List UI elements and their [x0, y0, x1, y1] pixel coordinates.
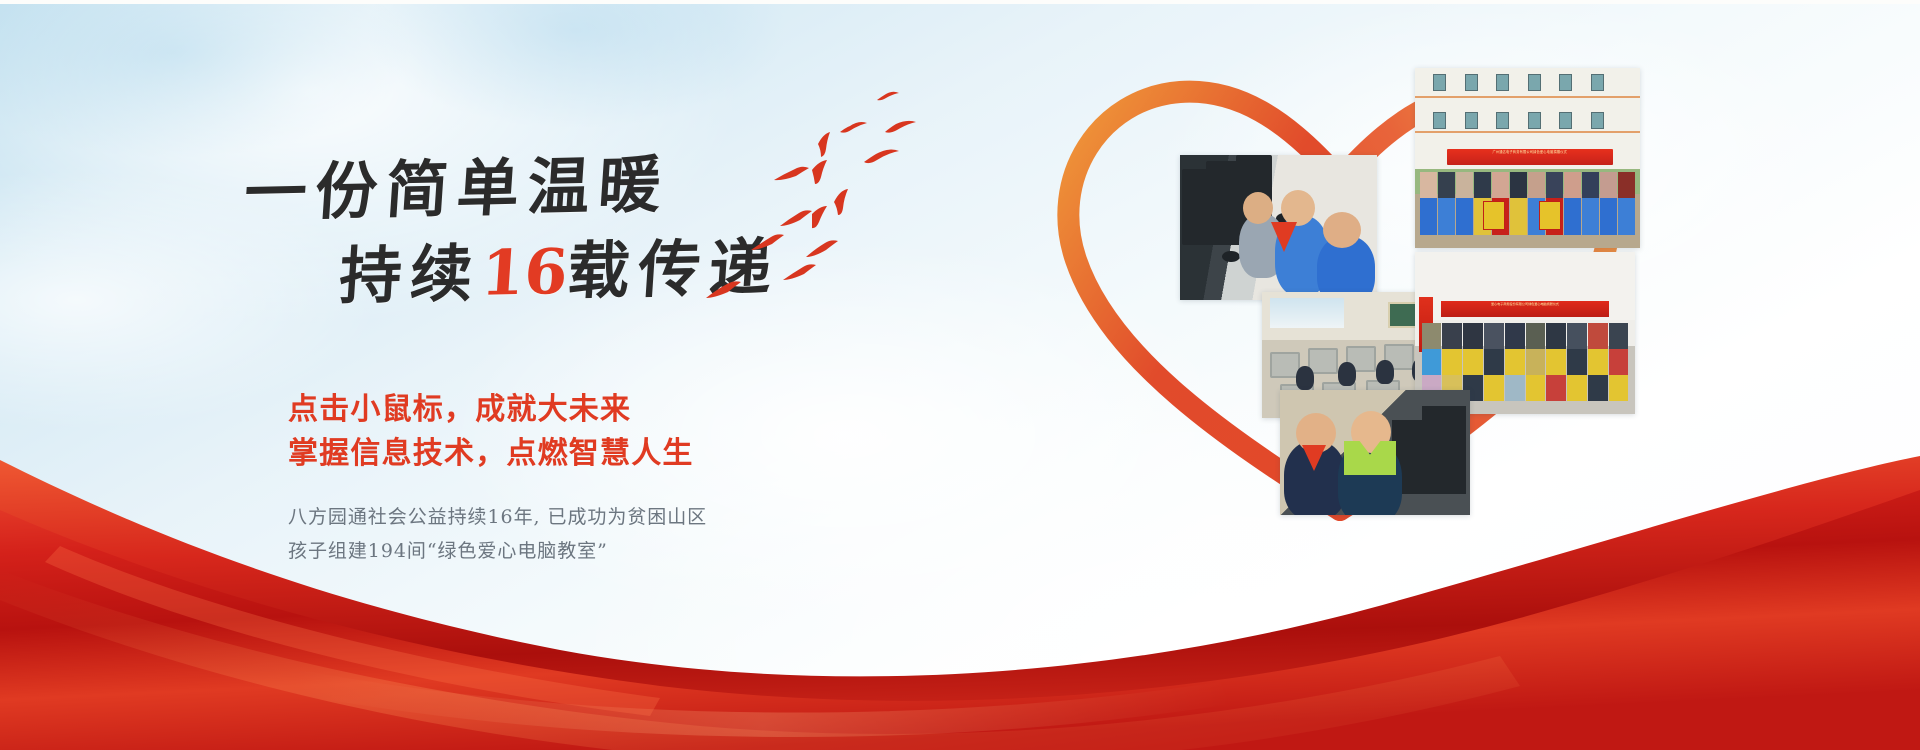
ceremony-banner-indoor: 爱心电子商务股份有限公司绿色爱心电脑捐赠仪式	[1441, 301, 1608, 317]
subtitle-line-1: 点击小鼠标，成就大未来	[288, 393, 631, 426]
photo-donation-ceremony-guangzhou: 广州通达电子商务有限公司绿色爱心电脑捐赠仪式 学校捐赠仪式合影	[1415, 68, 1640, 248]
headline-line-2-prefix: 持续	[337, 237, 483, 313]
ceremony-banner-text: 广州通达电子商务有限公司绿色爱心电脑捐赠仪式	[1447, 149, 1614, 155]
ceremony-banner-guangzhou: 广州通达电子商务有限公司绿色爱心电脑捐赠仪式	[1447, 149, 1614, 165]
photo-computer-lab-students: 学生在电脑教室使用鼠标上机	[1180, 155, 1377, 300]
flying-birds-icon	[700, 80, 930, 310]
ceremony-banner-text-2: 爱心电子商务股份有限公司绿色爱心电脑捐赠仪式	[1441, 301, 1608, 307]
charity-hero-banner: 一份简单温暖 持续16载传递 点击小鼠标，成就大未来 掌握信息技术，点燃智慧人生…	[0, 0, 1920, 750]
headline-years-number: 16	[479, 235, 570, 310]
red-silk-ribbon	[0, 450, 1920, 750]
